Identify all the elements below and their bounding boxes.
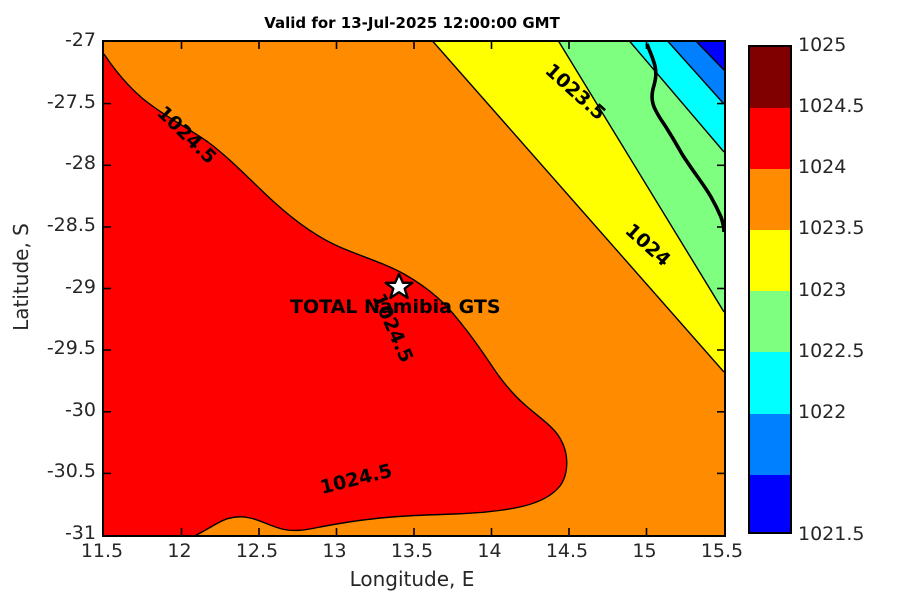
y-axis-label: Latitude, S [9, 157, 33, 397]
colorbar-tick-5: 1022.5 [798, 340, 864, 362]
xtick-7: 15 [600, 540, 690, 562]
ytick-6: -30 [26, 399, 96, 421]
ytick-2: -28 [26, 152, 96, 174]
xtick-4: 13.5 [367, 540, 457, 562]
colorbar-band-1023 [750, 291, 790, 352]
contour-field: 1024.5 1023.5 1024 1024.5 1024.5 [104, 42, 724, 535]
colorbar-band-1025 [750, 47, 790, 108]
ytick-7: -30.5 [26, 460, 96, 482]
colorbar-tick-2: 1024 [798, 156, 846, 178]
colorbar-tick-6: 1022 [798, 401, 846, 423]
colorbar[interactable] [748, 45, 792, 534]
x-axis-ticklabels: 11.5 12 12.5 13 13.5 14 14.5 15 15.5 [102, 540, 722, 568]
contour-map-figure: Valid for 13-Jul-2025 12:00:00 GMT [0, 0, 900, 600]
colorbar-band-1022p5 [750, 352, 790, 413]
ytick-3: -28.5 [26, 214, 96, 236]
y-axis-ticklabels: -27 -27.5 -28 -28.5 -29 -29.5 -30 -30.5 … [22, 40, 96, 533]
colorbar-tick-1: 1024.5 [798, 95, 864, 117]
figure-title: Valid for 13-Jul-2025 12:00:00 GMT [102, 14, 722, 32]
station-label: TOTAL Namibia GTS [290, 296, 501, 318]
colorbar-tick-4: 1023 [798, 279, 846, 301]
colorbar-band-1021p5 [750, 475, 790, 534]
xtick-5: 14 [445, 540, 535, 562]
plot-area[interactable]: 1024.5 1023.5 1024 1024.5 1024.5 [102, 40, 726, 537]
colorbar-tick-0: 1025 [798, 34, 846, 56]
ytick-4: -29 [26, 276, 96, 298]
xtick-1: 12 [135, 540, 225, 562]
colorbar-band-1024 [750, 169, 790, 230]
colorbar-tick-3: 1023.5 [798, 217, 864, 239]
colorbar-ticklabels: 1025 1024.5 1024 1023.5 1023 1022.5 1022… [798, 45, 862, 534]
colorbar-band-1023p5 [750, 230, 790, 291]
ytick-5: -29.5 [26, 337, 96, 359]
xtick-8: 15.5 [677, 540, 767, 562]
xtick-6: 14.5 [522, 540, 612, 562]
xtick-2: 12.5 [212, 540, 302, 562]
colorbar-band-1022 [750, 414, 790, 475]
colorbar-band-1024p5 [750, 108, 790, 169]
colorbar-tick-7: 1021.5 [798, 523, 864, 545]
ytick-0: -27 [26, 29, 96, 51]
x-axis-label: Longitude, E [102, 567, 722, 591]
xtick-3: 13 [290, 540, 380, 562]
xtick-0: 11.5 [57, 540, 147, 562]
ytick-1: -27.5 [26, 91, 96, 113]
